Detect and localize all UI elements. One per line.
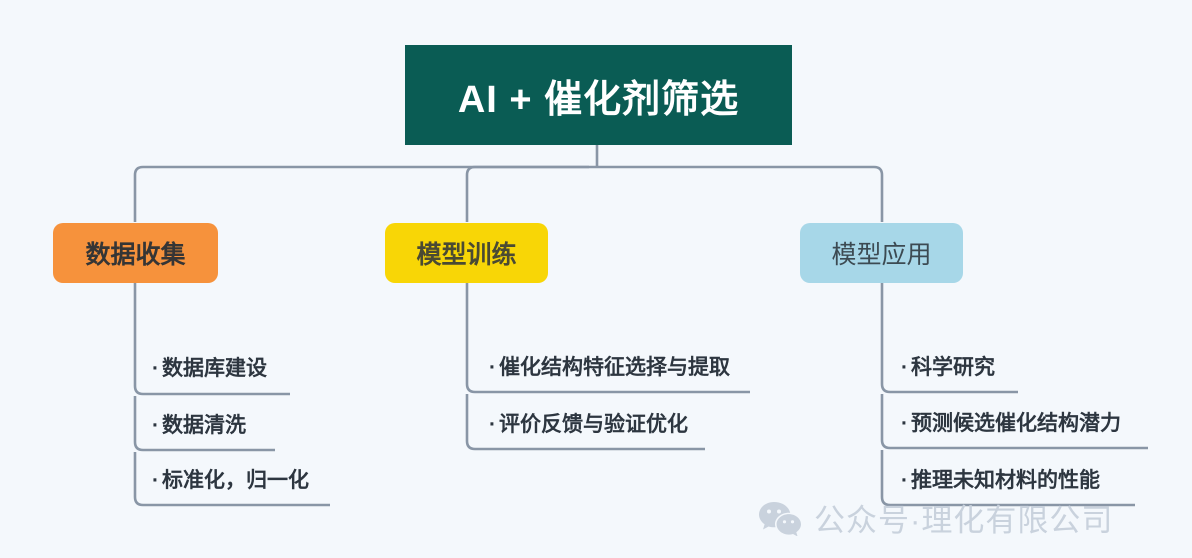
leaf-item[interactable]: ·推理未知材料的性能 [901,470,1100,491]
leaf-item-label: 数据库建设 [162,357,267,380]
leaf-item[interactable]: ·评价反馈与验证优化 [489,414,688,435]
leaf-bullet: · [901,469,908,492]
leaf-bullet: · [489,356,496,379]
leaf-bullet: · [152,469,159,492]
watermark: 公众号·理化有限公司 [758,495,1113,540]
branch-node-data-collection[interactable]: 数据收集 [53,223,218,283]
bus-middle [467,167,605,222]
root-node[interactable]: AI + 催化剂筛选 [405,45,792,145]
leaf-bullet: · [489,413,496,436]
leaf-item-label: 评价反馈与验证优化 [499,413,688,436]
leaf-item[interactable]: ·催化结构特征选择与提取 [489,357,730,378]
wechat-icon [758,500,802,536]
leaf-item-label: 推理未知材料的性能 [911,469,1100,492]
branch-node-model-training[interactable]: 模型训练 [385,223,548,283]
leaf-bullet: · [152,357,159,380]
leaf-item[interactable]: ·科学研究 [901,357,995,378]
leaf-item[interactable]: ·预测候选催化结构潜力 [901,413,1121,434]
bus-left [135,167,589,222]
leaf-item-label: 科学研究 [911,356,995,379]
leaf-item-label: 预测候选催化结构潜力 [911,412,1121,435]
leaf-item-label: 标准化，归一化 [162,469,309,492]
branch-label: 数据收集 [85,235,185,271]
leaf-bullet: · [901,412,908,435]
leaf-item-label: 数据清洗 [162,414,246,437]
leaf-item[interactable]: ·标准化，归一化 [152,470,309,491]
bus-right [605,167,882,222]
branch-label: 模型训练 [416,235,516,271]
leaf-item-label: 催化结构特征选择与提取 [499,356,730,379]
root-node-label: AI + 催化剂筛选 [458,68,739,123]
leaf-item[interactable]: ·数据清洗 [152,415,246,436]
branch-node-model-application[interactable]: 模型应用 [800,223,963,283]
branch-label: 模型应用 [831,235,931,271]
leaf-bullet: · [152,414,159,437]
leaf-item[interactable]: ·数据库建设 [152,358,267,379]
mindmap-canvas: AI + 催化剂筛选 数据收集 模型训练 模型应用 ·数据库建设 ·数据清洗 ·… [0,0,1192,558]
leaf-bullet: · [901,356,908,379]
watermark-text: 公众号·理化有限公司 [814,495,1113,540]
